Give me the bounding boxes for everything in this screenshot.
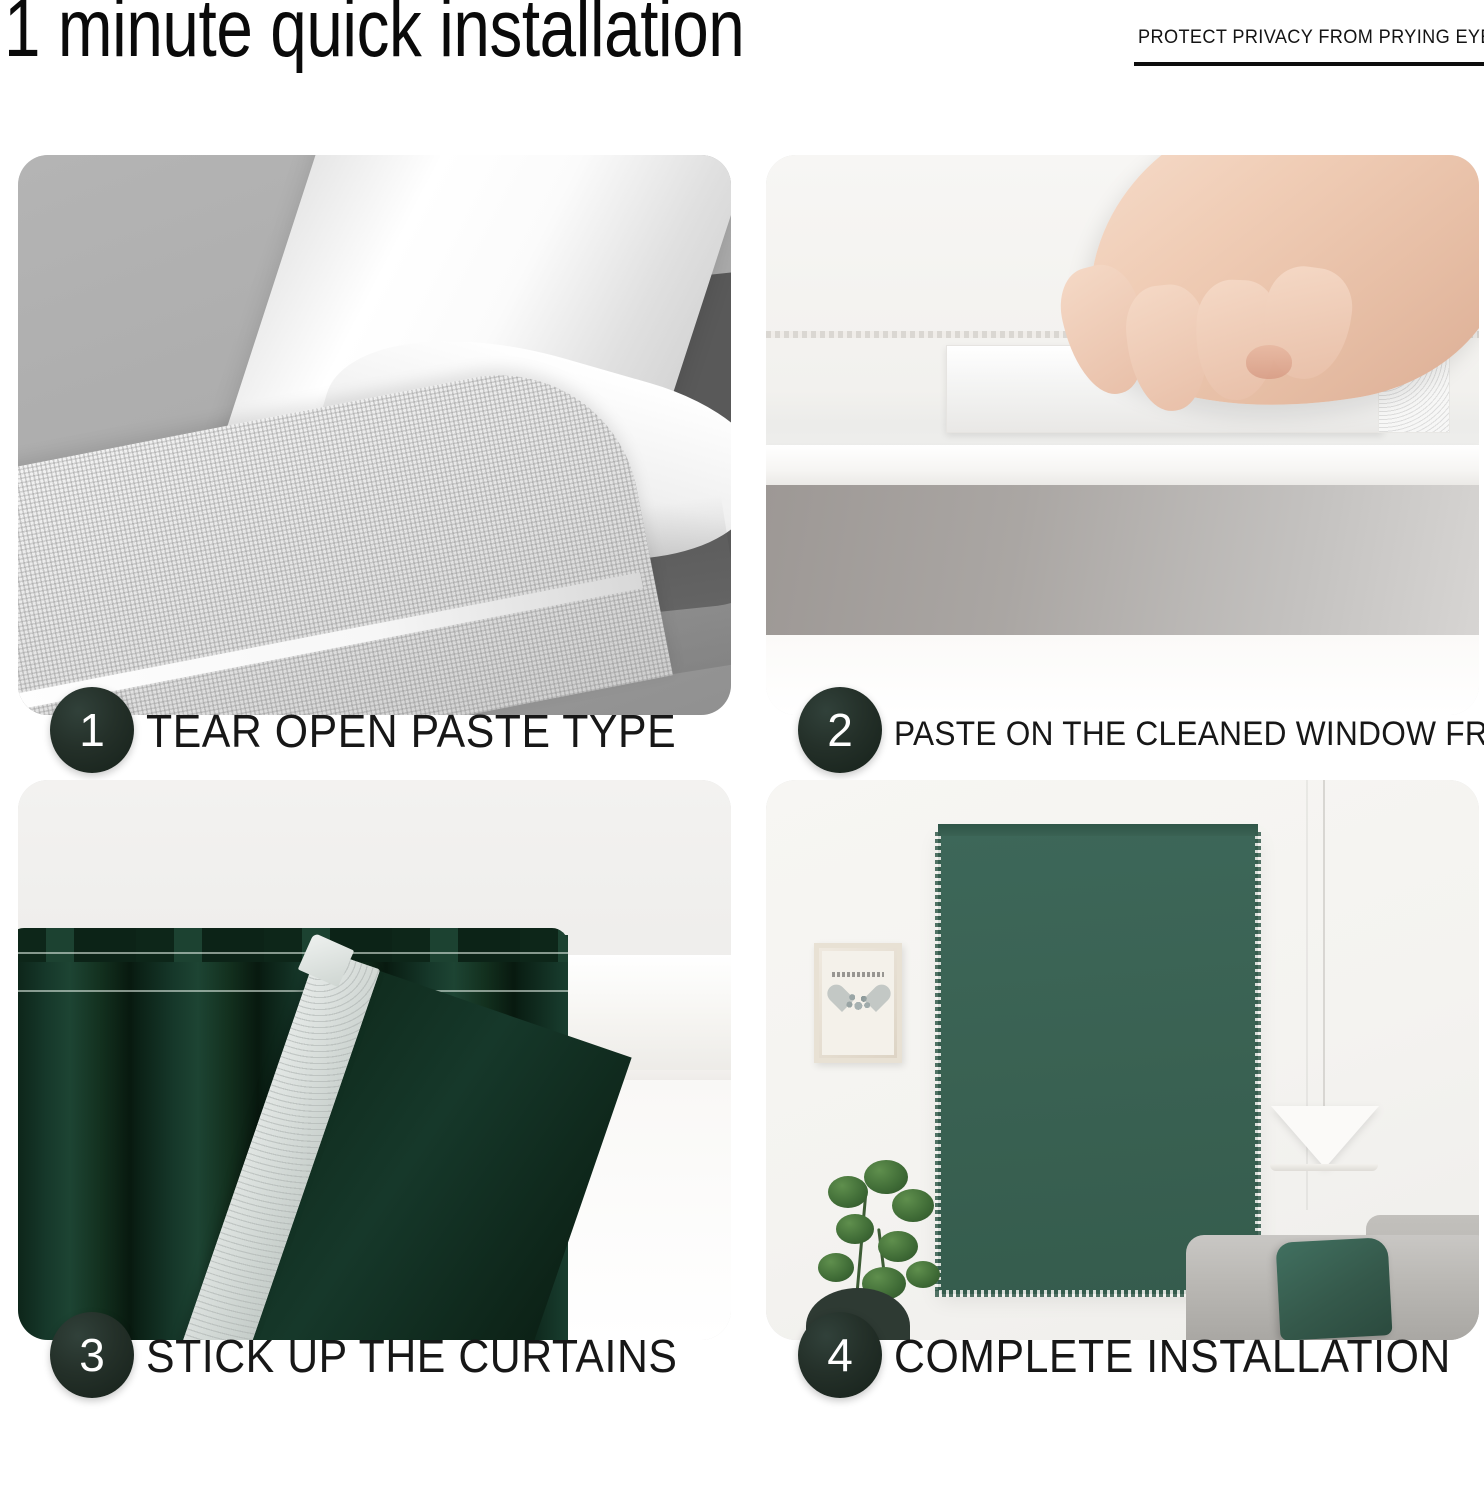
step-2-caption: PASTE ON THE CLEANED WINDOW FRAME [894,715,1484,754]
gray-wall-below [766,485,1479,640]
installed-green-curtain [938,832,1258,1294]
plant-leaf [828,1176,868,1208]
pendant-lamp-rim [1270,1164,1378,1171]
plant-leaf [818,1253,854,1282]
step-3-caption: STICK UP THE CURTAINS [146,1330,678,1383]
fingernail [1246,345,1292,379]
curtain-pleat-tops [18,928,568,962]
curtain-stitch-line-bottom [18,990,568,992]
step-4-caption: COMPLETE INSTALLATION [894,1330,1451,1383]
plant-leaf [892,1189,934,1222]
step-2-photo [766,155,1479,715]
step-4-photo [766,780,1479,1340]
wall-art-caption-text [832,972,884,977]
plant-leaf [906,1261,940,1288]
plant-leaf [878,1231,918,1262]
tagline-block: PROTECT PRIVACY FROM PRYING EYES [1112,26,1484,66]
pendant-lamp-cord [1323,780,1325,1110]
step-card-4: 4 COMPLETE INSTALLATION [766,780,1479,1405]
heart-artwork-icon [842,986,876,1018]
steps-grid: 1 TEAR OPEN PASTE TYPE 2 PASTE ON THE CL… [0,150,1484,1494]
step-3-caption-row: 3 STICK UP THE CURTAINS [18,1312,731,1405]
page-title: 1 minute quick installation [4,0,744,70]
step-1-photo [18,155,731,715]
header: 1 minute quick installation PROTECT PRIV… [0,0,1484,120]
curtain-picot-edge-left [935,832,941,1294]
step-badge-1: 1 [50,687,134,773]
step-badge-3: 3 [50,1312,134,1398]
step-1-caption: TEAR OPEN PASTE TYPE [146,705,676,758]
curtain-top-band [938,824,1258,836]
tagline-text: PROTECT PRIVACY FROM PRYING EYES [1138,26,1484,49]
pendant-lamp-shade [1271,1106,1379,1168]
step-2-caption-row: 2 PASTE ON THE CLEANED WINDOW FRAME [766,687,1479,780]
step-1-caption-row: 1 TEAR OPEN PASTE TYPE [18,687,731,780]
curtain-stitch-line-top [18,952,568,954]
step-badge-4: 4 [798,1312,882,1398]
step-card-1: 1 TEAR OPEN PASTE TYPE [18,155,731,780]
curtain-picot-edge-right [1255,832,1261,1294]
tagline-divider [1134,62,1484,66]
step-3-photo [18,780,731,1340]
step-card-2: 2 PASTE ON THE CLEANED WINDOW FRAME [766,155,1479,780]
plant-leaf [836,1214,874,1244]
step-badge-2: 2 [798,687,882,773]
plant-leaf [864,1160,908,1194]
step-4-caption-row: 4 COMPLETE INSTALLATION [766,1312,1479,1405]
step-card-3: 3 STICK UP THE CURTAINS [18,780,731,1405]
